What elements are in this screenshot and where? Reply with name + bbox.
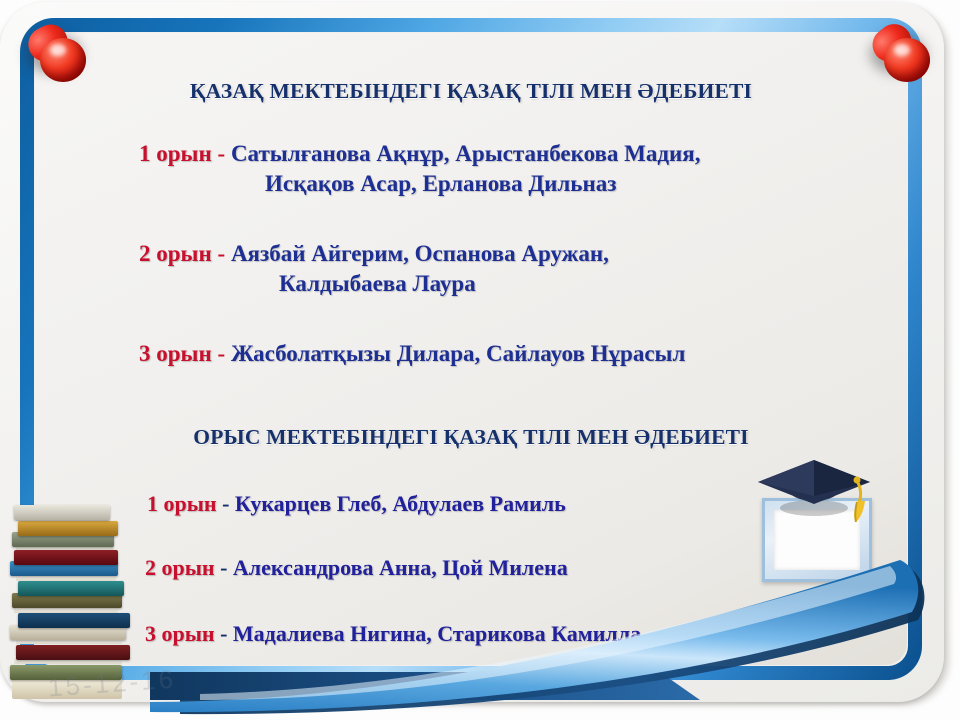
names-line-1: Аязбай Айгерим, Оспанова Аружан, bbox=[231, 241, 609, 266]
result-row-rus-3: 3 орын - Мадалиева Нигина, Старикова Кам… bbox=[145, 621, 641, 647]
pin-gloss bbox=[50, 44, 66, 56]
book bbox=[18, 581, 124, 596]
names-line-1: Мадалиева Нигина, Старикова Камилла bbox=[233, 621, 641, 646]
result-row-kaz-1: 1 орын - Сатылғанова Ақнұр, Арыстанбеков… bbox=[139, 141, 700, 197]
book bbox=[18, 521, 118, 536]
push-pin-icon-right bbox=[866, 16, 940, 90]
place-label: 3 орын bbox=[139, 341, 212, 366]
slide-canvas: ҚАЗАҚ МЕКТЕБІНДЕГІ ҚАЗАҚ ТІЛІ МЕН ӘДЕБИЕ… bbox=[0, 0, 960, 720]
dash-separator: - bbox=[220, 621, 227, 646]
dash-separator: - bbox=[218, 341, 226, 366]
place-label: 1 орын bbox=[147, 491, 217, 516]
heading-kazakh-school: ҚАЗАҚ МЕКТЕБІНДЕГІ ҚАЗАҚ ТІЛІ МЕН ӘДЕБИЕ… bbox=[35, 79, 907, 104]
book bbox=[18, 613, 130, 628]
place-label: 3 орын bbox=[145, 621, 215, 646]
book bbox=[16, 645, 130, 660]
content-panel: ҚАЗАҚ МЕКТЕБІНДЕГІ ҚАЗАҚ ТІЛІ МЕН ӘДЕБИЕ… bbox=[35, 33, 907, 665]
names-line-1: Александрова Анна, Цой Милена bbox=[233, 555, 568, 580]
result-row-kaz-2: 2 орын - Аязбай Айгерим, Оспанова Аружан… bbox=[139, 241, 609, 297]
names-line-1: Жасболатқызы Дилара, Сайлауов Нұрасыл bbox=[231, 341, 685, 366]
place-label: 2 орын bbox=[145, 555, 215, 580]
result-row-rus-1: 1 орын - Кукарцев Глеб, Абдулаев Рамиль bbox=[147, 491, 566, 517]
dash-separator: - bbox=[222, 491, 229, 516]
names-line-2: Исқақов Асар, Ерланова Дильназ bbox=[265, 171, 700, 197]
dash-separator: - bbox=[218, 141, 226, 166]
heading-russian-school: ОРЫС МЕКТЕБІНДЕГІ ҚАЗАҚ ТІЛІ МЕН ӘДЕБИЕТ… bbox=[35, 425, 907, 450]
names-line-1: Кукарцев Глеб, Абдулаев Рамиль bbox=[235, 491, 566, 516]
book bbox=[14, 550, 118, 565]
graduation-cap-icon bbox=[756, 456, 876, 522]
place-label: 2 орын bbox=[139, 241, 212, 266]
push-pin-icon-left bbox=[22, 16, 96, 90]
dash-separator: - bbox=[220, 555, 227, 580]
pin-gloss bbox=[894, 44, 910, 56]
place-label: 1 орын bbox=[139, 141, 212, 166]
result-row-kaz-3: 3 орын - Жасболатқызы Дилара, Сайлауов Н… bbox=[139, 341, 685, 367]
book bbox=[14, 505, 110, 520]
names-line-1: Сатылғанова Ақнұр, Арыстанбекова Мадия, bbox=[231, 141, 701, 166]
names-line-2: Калдыбаева Лаура bbox=[279, 271, 609, 297]
result-row-rus-2: 2 орын - Александрова Анна, Цой Милена bbox=[145, 555, 568, 581]
dash-separator: - bbox=[218, 241, 226, 266]
